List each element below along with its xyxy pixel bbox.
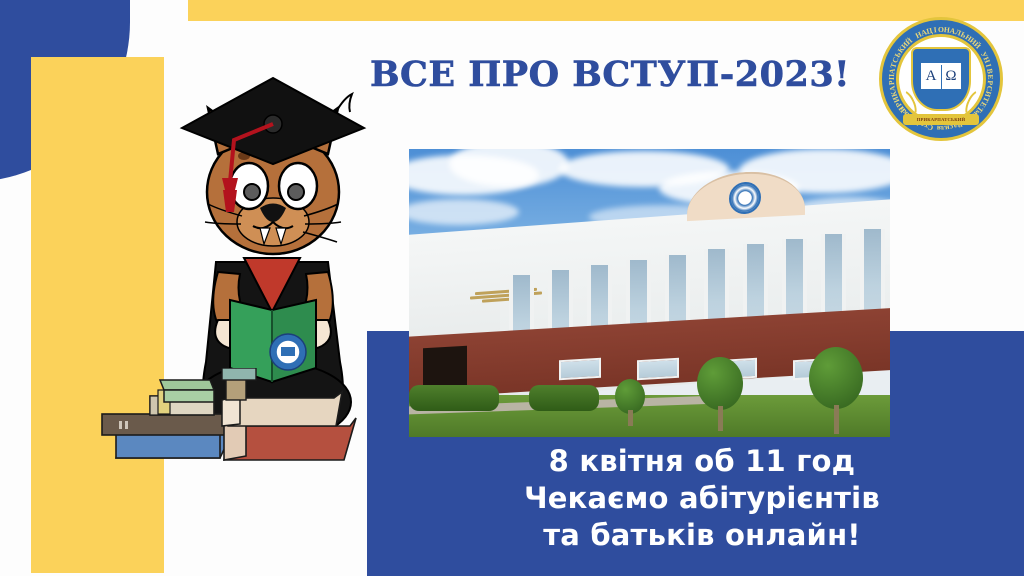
logo-banner: ПРИКАРПАТСЬКИЙ (903, 114, 979, 125)
logo-shield: А Ω (911, 47, 971, 111)
tree (697, 357, 743, 431)
logo-omega: Ω (941, 68, 961, 85)
caption-line-3: та батьків онлайн! (402, 517, 1002, 554)
event-caption: 8 квітня об 11 год Чекаємо абітурієнтів … (402, 443, 1002, 554)
logo-alpha: А (921, 68, 941, 85)
caption-line-1: 8 квітня об 11 год (402, 443, 1002, 480)
university-building-photo (409, 149, 890, 437)
book-stack-icon (98, 368, 368, 468)
tree (615, 379, 645, 427)
tree (809, 347, 863, 433)
university-logo: ПРИКАРПАТСЬКИЙ НАЦІОНАЛЬНИЙ УНІВЕРСИТЕТ … (879, 17, 1003, 141)
page-title: ВСЕ ПРО ВСТУП-2023! (330, 54, 890, 95)
background-yellow-column (31, 57, 164, 573)
caption-line-2: Чекаємо абітурієнтів (402, 480, 1002, 517)
book-stack (98, 368, 368, 468)
logo-open-book-icon: А Ω (920, 62, 962, 90)
poster-canvas: ВСЕ ПРО ВСТУП-2023! (0, 0, 1024, 576)
